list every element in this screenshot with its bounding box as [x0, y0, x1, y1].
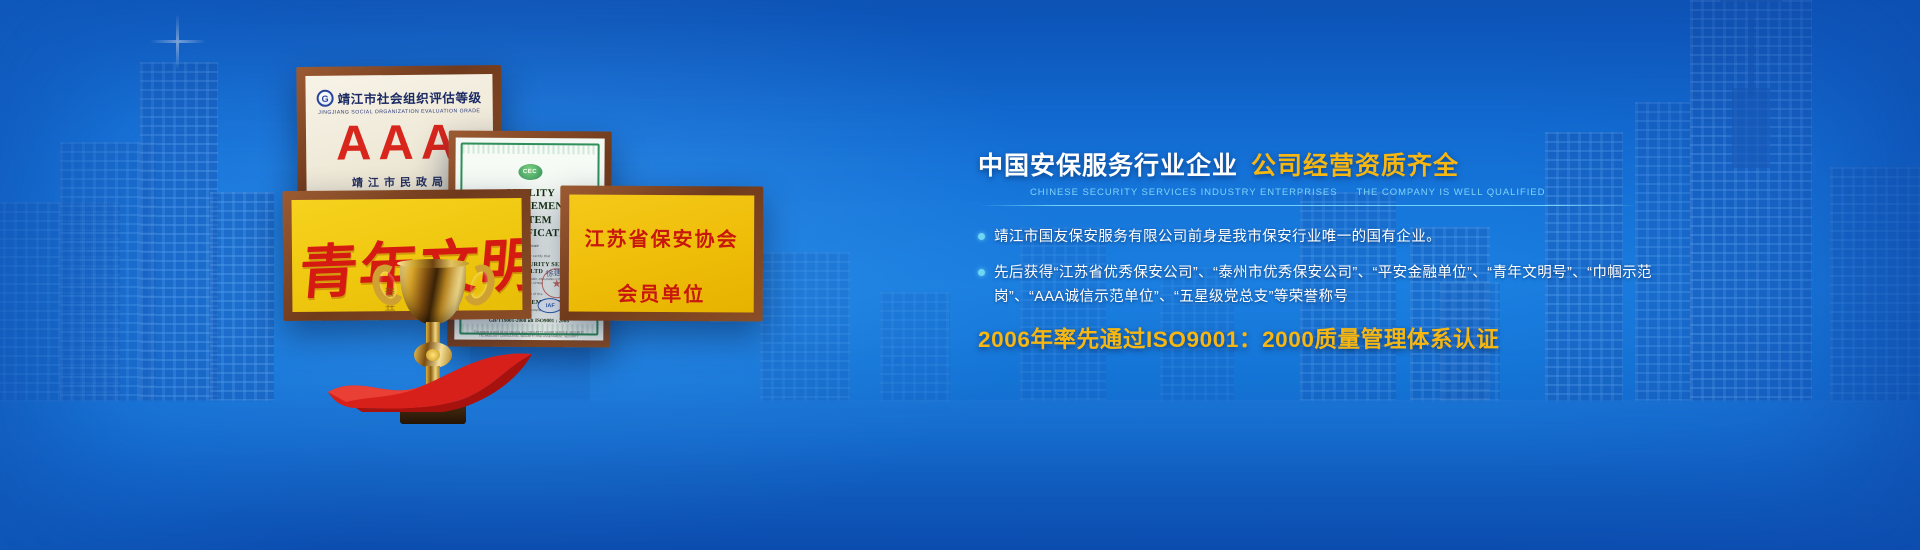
list-item: 先后获得“江苏省优秀保安公司”、“泰州市优秀保安公司”、“平安金融单位”、“青年…: [978, 262, 1678, 309]
plaque-inner: 江苏省保安协会 会员单位: [569, 195, 755, 313]
trophy-cup: [400, 262, 466, 324]
subheadline: CHINESE SECURITY SERVICES INDUSTRY ENTER…: [978, 187, 1678, 198]
jingjiang-seal-icon: [316, 90, 333, 107]
list-item: 靖江市国友保安服务有限公司前身是我市保安行业唯一的国有企业。: [978, 226, 1678, 249]
plaque-frame: 江苏省保安协会 会员单位: [560, 185, 764, 321]
headline-gold: 公司经营资质齐全: [1251, 146, 1459, 182]
trophy-rim: [397, 259, 469, 268]
bullet-text: 先后获得“江苏省优秀保安公司”、“泰州市优秀保安公司”、“平安金融单位”、“青年…: [994, 262, 1678, 309]
iso-certification-line: 2006年率先通过ISO9001：2000质量管理体系认证: [978, 322, 1678, 354]
red-ribbon-icon: [326, 346, 541, 412]
marketing-copy: 中国安保服务行业企业 公司经营资质齐全 CHINESE SECURITY SER…: [978, 146, 1678, 354]
plaque-security-association: 江苏省保安协会 会员单位: [560, 185, 764, 321]
aaa-header: 靖江市社会组织评估等级: [306, 87, 493, 108]
aaa-title-cn: 靖江市社会组织评估等级: [337, 87, 481, 108]
cec-logo-icon: [518, 164, 542, 180]
gold-trophy-icon: [366, 250, 501, 425]
certificate-banner: 靖江市社会组织评估等级 JINGJIANG SOCIAL ORGANIZATIO…: [0, 0, 1920, 550]
aaa-title-en: JINGJIANG SOCIAL ORGANIZATION EVALUATION…: [306, 108, 493, 116]
bullet-dot-icon: [978, 269, 985, 276]
headline-white: 中国安保服务行业企业: [978, 146, 1238, 182]
headline: 中国安保服务行业企业 公司经营资质齐全: [978, 146, 1678, 182]
bullet-text: 靖江市国友保安服务有限公司前身是我市保安行业唯一的国有企业。: [994, 226, 1441, 249]
association-line1: 江苏省保安协会: [569, 223, 754, 253]
subheadline-right: THE COMPANY IS WELL QUALIFIED: [1356, 187, 1545, 198]
bullet-dot-icon: [978, 233, 985, 240]
subheadline-left: CHINESE SECURITY SERVICES INDUSTRY ENTER…: [1030, 187, 1337, 198]
divider: [978, 205, 1638, 206]
association-line2: 会员单位: [569, 278, 754, 308]
bullet-list: 靖江市国友保安服务有限公司前身是我市保安行业唯一的国有企业。 先后获得“江苏省优…: [978, 226, 1678, 309]
